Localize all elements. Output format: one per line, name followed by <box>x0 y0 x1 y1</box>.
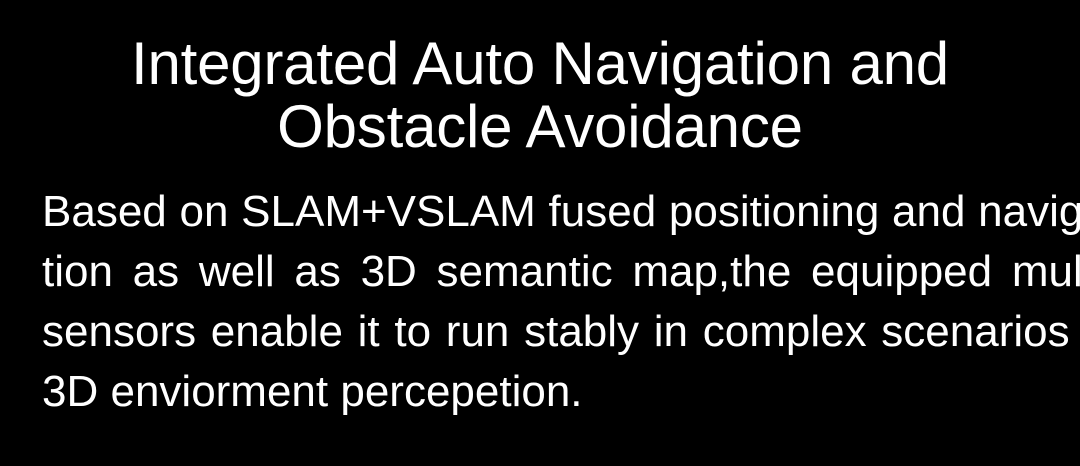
page-title: Integrated Auto Navigation and Obstacle … <box>0 32 1080 158</box>
body-line-3: sensors enable it to run stably in compl… <box>42 302 1038 362</box>
body-line-4: 3D enviorment percepetion. <box>42 362 1038 422</box>
slide-root: Integrated Auto Navigation and Obstacle … <box>0 0 1080 466</box>
title-line-1: Integrated Auto Navigation and <box>0 32 1080 95</box>
body-line-2: tion as well as 3D semantic map,the equi… <box>42 242 1038 302</box>
title-line-2: Obstacle Avoidance <box>0 95 1080 158</box>
body-paragraph: Based on SLAM+VSLAM fused positioning an… <box>42 182 1038 422</box>
body-line-1: Based on SLAM+VSLAM fused positioning an… <box>42 182 1038 242</box>
